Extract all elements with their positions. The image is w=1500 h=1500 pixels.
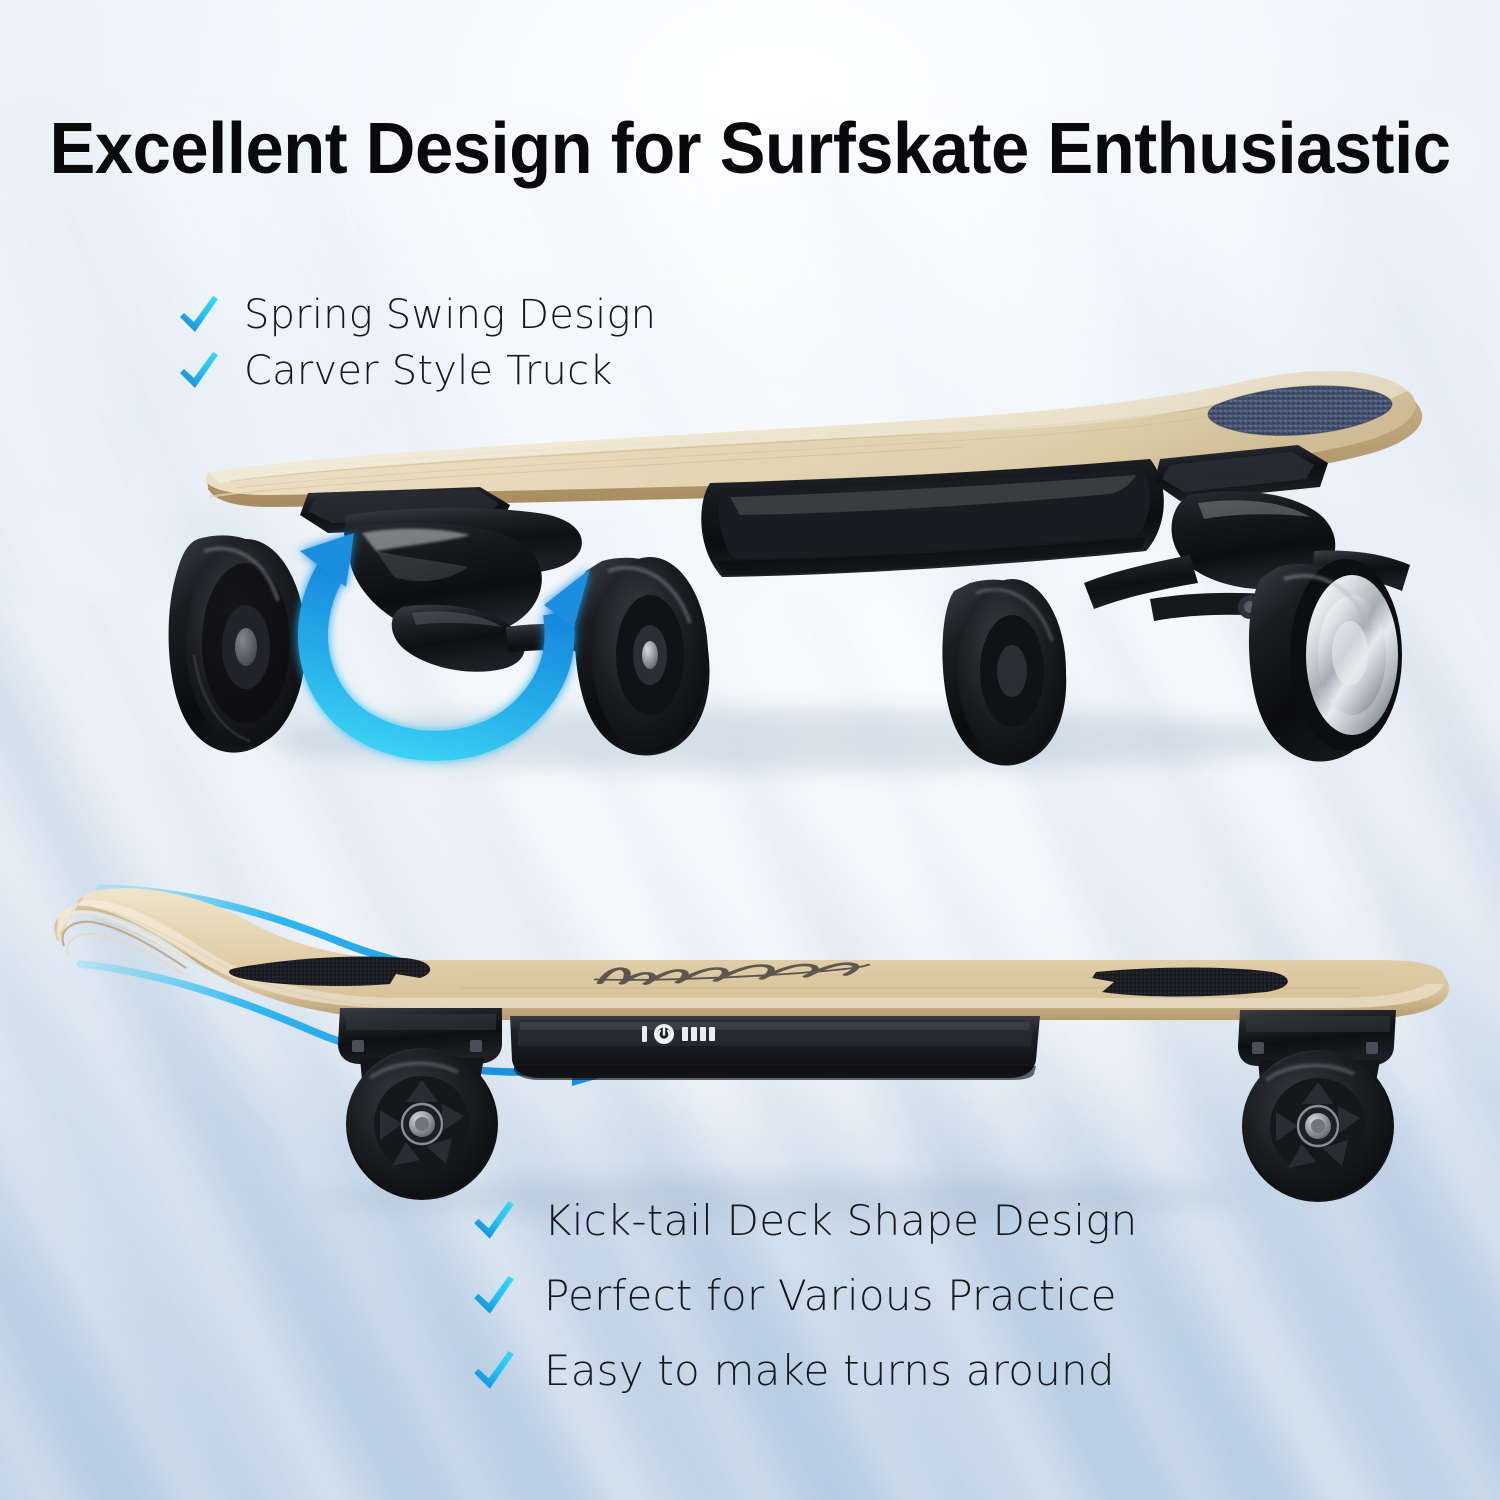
rear-left-wheel [942, 579, 1066, 766]
page-title: Excellent Design for Surfskate Enthusias… [34, 108, 1467, 190]
list-item: Kick-tail Deck Shape Design [470, 1196, 1137, 1245]
check-icon [470, 1347, 518, 1395]
list-item: Carver Style Truck [176, 348, 656, 394]
power-button-icon[interactable] [642, 1024, 674, 1044]
feature-label: Carver Style Truck [244, 348, 613, 394]
list-item: Spring Swing Design [176, 292, 656, 338]
tail-grip-tape [1092, 968, 1288, 997]
check-icon [176, 348, 222, 394]
check-icon [470, 1197, 518, 1245]
feature-label: Spring Swing Design [244, 292, 656, 338]
bottom-feature-list: Kick-tail Deck Shape Design Perfect for … [470, 1196, 1137, 1421]
electric-skateboard-perspective-view [150, 355, 1440, 775]
battery-enclosure [510, 1016, 1040, 1080]
check-icon [470, 1272, 518, 1320]
top-feature-list: Spring Swing Design Carver Style Truck [176, 292, 656, 404]
electric-skateboard-side-view [40, 880, 1460, 1220]
list-item: Perfect for Various Practice [470, 1271, 1137, 1320]
kicktail-maple-deck [54, 888, 1449, 1020]
product-feature-image: Excellent Design for Surfskate Enthusias… [0, 0, 1500, 1500]
feature-label: Perfect for Various Practice [544, 1271, 1117, 1320]
front-left-wheel [169, 535, 306, 752]
rear-wheel-side [1242, 1050, 1394, 1202]
feature-label: Kick-tail Deck Shape Design [544, 1196, 1137, 1245]
check-icon [176, 292, 222, 338]
front-wheel-side [346, 1048, 498, 1200]
list-item: Easy to make turns around [470, 1346, 1137, 1395]
feature-label: Easy to make turns around [544, 1346, 1115, 1395]
rear-right-wheel [1249, 559, 1402, 762]
